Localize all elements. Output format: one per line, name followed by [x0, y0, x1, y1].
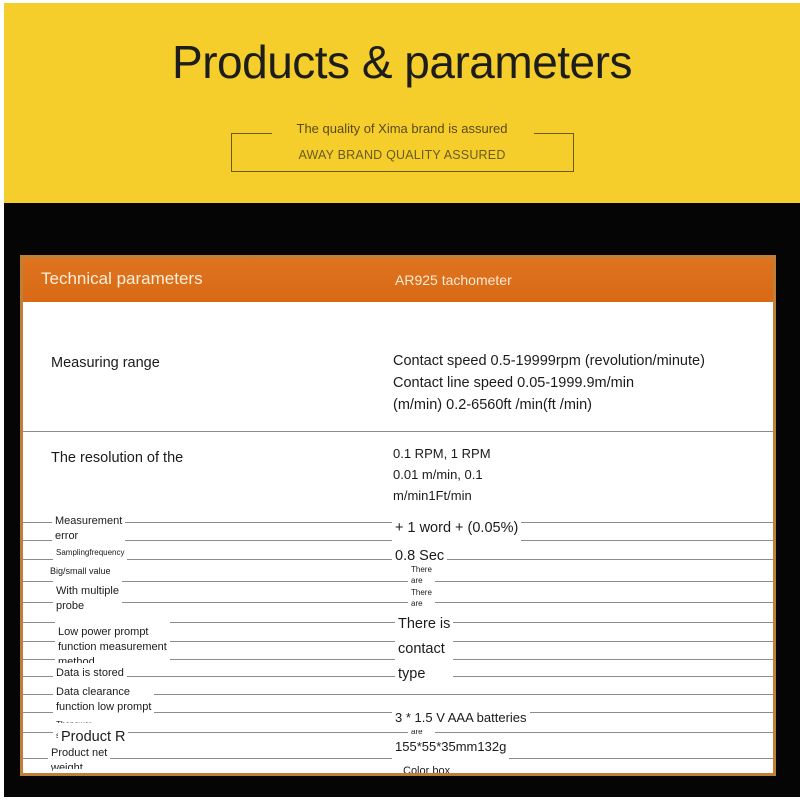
- row-label-data-clearance: Data clearance function low prompt: [56, 685, 151, 715]
- row-value-multiple-probe: There are: [411, 587, 432, 609]
- hero-banner: Products & parameters The quality of Xim…: [4, 3, 800, 203]
- specs-header-label: Technical parameters: [41, 269, 203, 289]
- row-label-sampling-frequency: Samplingfrequency: [56, 547, 124, 558]
- row-label-multiple-probe: With multiple probe: [56, 584, 119, 614]
- row-value-big-small-value: There are: [411, 564, 432, 586]
- row-divider: [23, 431, 773, 432]
- brand-tagline-secondary: AWAY BRAND QUALITY ASSURED: [4, 148, 800, 162]
- specs-table-header: Technical parameters AR925 tachometer: [23, 258, 773, 302]
- row-value-resolution: 0.1 RPM, 1 RPM 0.01 m/min, 0.1 m/min1Ft/…: [393, 443, 491, 506]
- row-divider: [23, 602, 773, 603]
- row-divider: [23, 732, 773, 733]
- row-label-net-weight: Product net weight: [51, 746, 107, 773]
- row-label-resolution: The resolution of the: [51, 447, 183, 469]
- row-divider: [23, 540, 773, 541]
- specs-header-model: AR925 tachometer: [395, 272, 512, 288]
- row-label-measurement-error: Measurement error: [55, 514, 122, 544]
- row-value-measuring-range: Contact speed 0.5-19999rpm (revolution/m…: [393, 350, 705, 416]
- row-label-product-r: Product R: [61, 726, 125, 748]
- row-divider: [23, 581, 773, 582]
- row-divider: [23, 758, 773, 759]
- specs-table: Technical parameters AR925 tachometer Me…: [20, 255, 776, 776]
- row-label-low-power-prompt: Low power prompt function measurement me…: [58, 625, 167, 670]
- brand-tagline-primary: The quality of Xima brand is assured: [4, 121, 800, 136]
- row-value-net-weight: 155*55*35mm132g: [395, 737, 506, 756]
- specs-table-body: Measuring range Contact speed 0.5-19999r…: [23, 302, 773, 773]
- row-value-low-power-prompt: There is contact type: [398, 612, 450, 687]
- page-title: Products & parameters: [4, 35, 800, 89]
- row-value-packing-way: Color box packaging: [403, 764, 453, 773]
- product-parameters-page: Products & parameters The quality of Xim…: [0, 0, 800, 800]
- row-value-product-r: 3 * 1.5 V AAA batteries: [395, 708, 527, 727]
- row-label-measuring-range: Measuring range: [51, 352, 160, 374]
- row-value-measurement-error: + 1 word + (0.05%): [395, 517, 518, 539]
- row-label-packing-way: The packing way: [56, 772, 139, 773]
- row-label-data-stored: Data is stored: [56, 666, 124, 681]
- row-label-big-small-value: Big/small value: [50, 566, 111, 577]
